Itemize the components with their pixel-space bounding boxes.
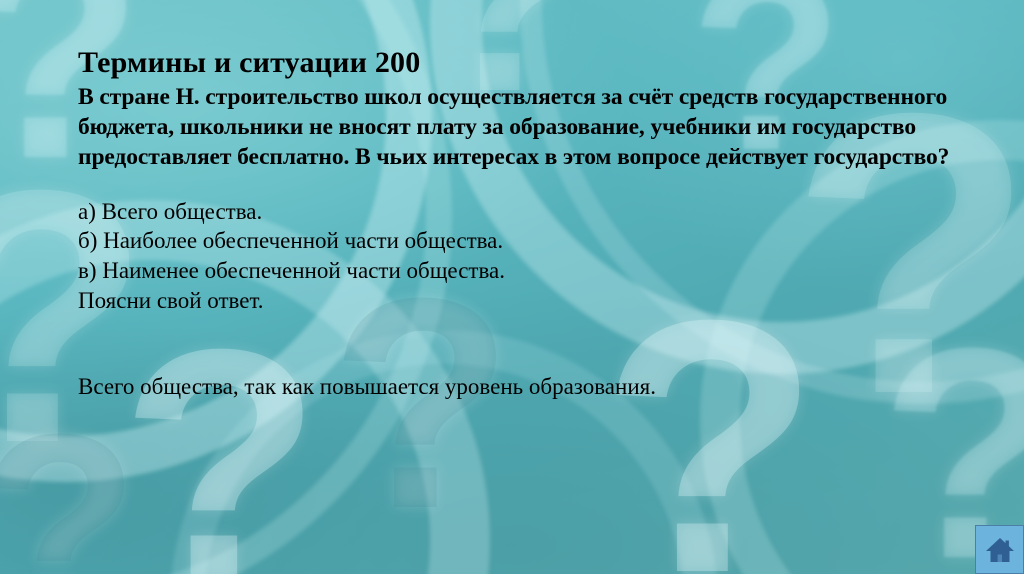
- answer-option-b[interactable]: б) Наиболее обеспеченной части общества.: [78, 226, 958, 256]
- answer-options-list: а) Всего общества. б) Наиболее обеспечен…: [78, 197, 958, 317]
- slide-content: Термины и ситуации 200 В стране Н. строи…: [78, 46, 958, 402]
- home-icon: [985, 536, 1015, 564]
- slide-title: Термины и ситуации 200: [78, 46, 958, 80]
- question-text: В стране Н. строительство школ осуществл…: [78, 82, 958, 173]
- answer-option-a[interactable]: а) Всего общества.: [78, 197, 958, 227]
- correct-answer-text: Всего общества, так как повышается урове…: [78, 372, 958, 402]
- slide-canvas: ? ? ? ? ? ? ? ? ? ? Термины и ситуации 2…: [0, 0, 1024, 574]
- answer-option-c[interactable]: в) Наименее обеспеченной части общества.: [78, 256, 958, 286]
- explain-prompt: Поясни свой ответ.: [78, 286, 958, 316]
- home-button[interactable]: [975, 525, 1024, 574]
